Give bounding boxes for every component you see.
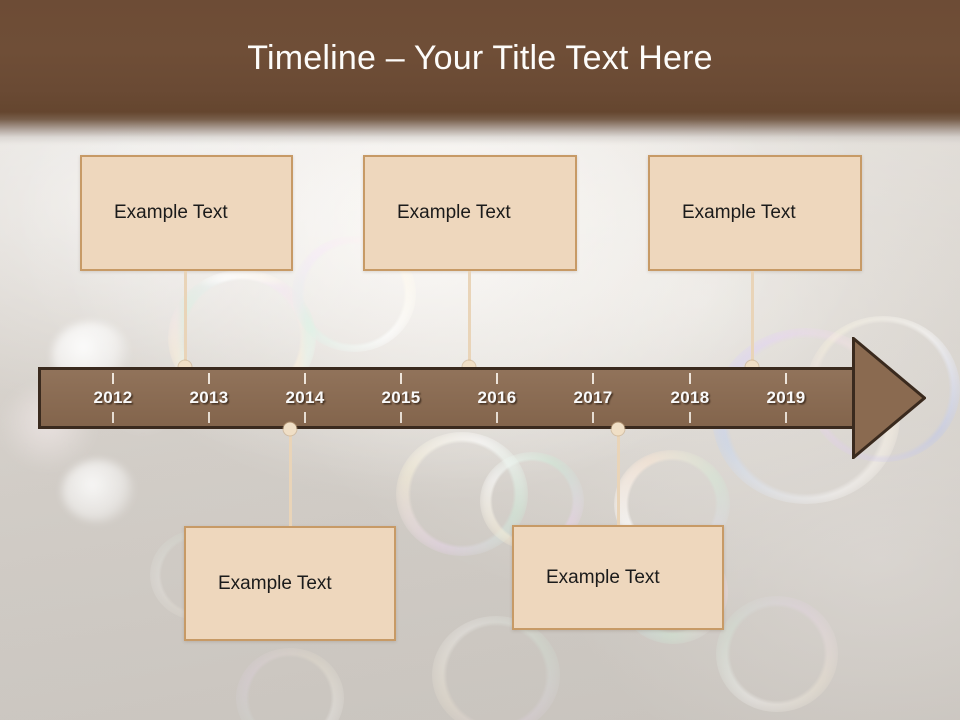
connector-dot: [284, 423, 297, 436]
callout-text: Example Text: [82, 201, 228, 225]
callout-box[interactable]: Example Text: [363, 155, 577, 271]
connector-dot: [612, 423, 625, 436]
callout-connector: [289, 427, 292, 526]
callout-connector: [468, 271, 471, 369]
callout-box[interactable]: Example Text: [184, 526, 396, 641]
callout-text: Example Text: [514, 566, 660, 590]
callout-text: Example Text: [186, 572, 332, 596]
callout-connector: [751, 271, 754, 369]
year-tick-bottom: [496, 412, 498, 423]
arrow-head-icon: [852, 337, 926, 459]
year-tick-top: [496, 373, 498, 384]
year-tick-top: [208, 373, 210, 384]
year-label: 2018: [670, 388, 709, 408]
year-tick-top: [689, 373, 691, 384]
year-tick-top: [400, 373, 402, 384]
year-tick-bottom: [592, 412, 594, 423]
year-tick-top: [112, 373, 114, 384]
year-tick-top: [785, 373, 787, 384]
year-tick-top: [592, 373, 594, 384]
year-label: 2017: [573, 388, 612, 408]
callout-connector: [617, 427, 620, 525]
year-label: 2013: [189, 388, 228, 408]
callout-box[interactable]: Example Text: [80, 155, 293, 271]
year-tick-bottom: [400, 412, 402, 423]
slide-canvas: Timeline – Your Title Text Here Example …: [0, 0, 960, 720]
callout-box[interactable]: Example Text: [648, 155, 862, 271]
year-tick-bottom: [208, 412, 210, 423]
callout-box[interactable]: Example Text: [512, 525, 724, 630]
year-label: 2014: [285, 388, 324, 408]
callout-connector: [184, 271, 187, 369]
callout-text: Example Text: [365, 201, 511, 225]
timeline-arrow: 20122013201420152016201720182019: [38, 367, 926, 429]
year-tick-bottom: [689, 412, 691, 423]
timeline-bar: 20122013201420152016201720182019: [38, 367, 858, 429]
title-band-fade: [0, 112, 960, 146]
year-tick-bottom: [785, 412, 787, 423]
page-title: Timeline – Your Title Text Here: [0, 40, 960, 77]
year-label: 2016: [477, 388, 516, 408]
year-tick-bottom: [112, 412, 114, 423]
year-label: 2015: [381, 388, 420, 408]
year-tick-bottom: [304, 412, 306, 423]
year-tick-top: [304, 373, 306, 384]
year-label: 2012: [93, 388, 132, 408]
year-label: 2019: [766, 388, 805, 408]
callout-text: Example Text: [650, 201, 796, 225]
